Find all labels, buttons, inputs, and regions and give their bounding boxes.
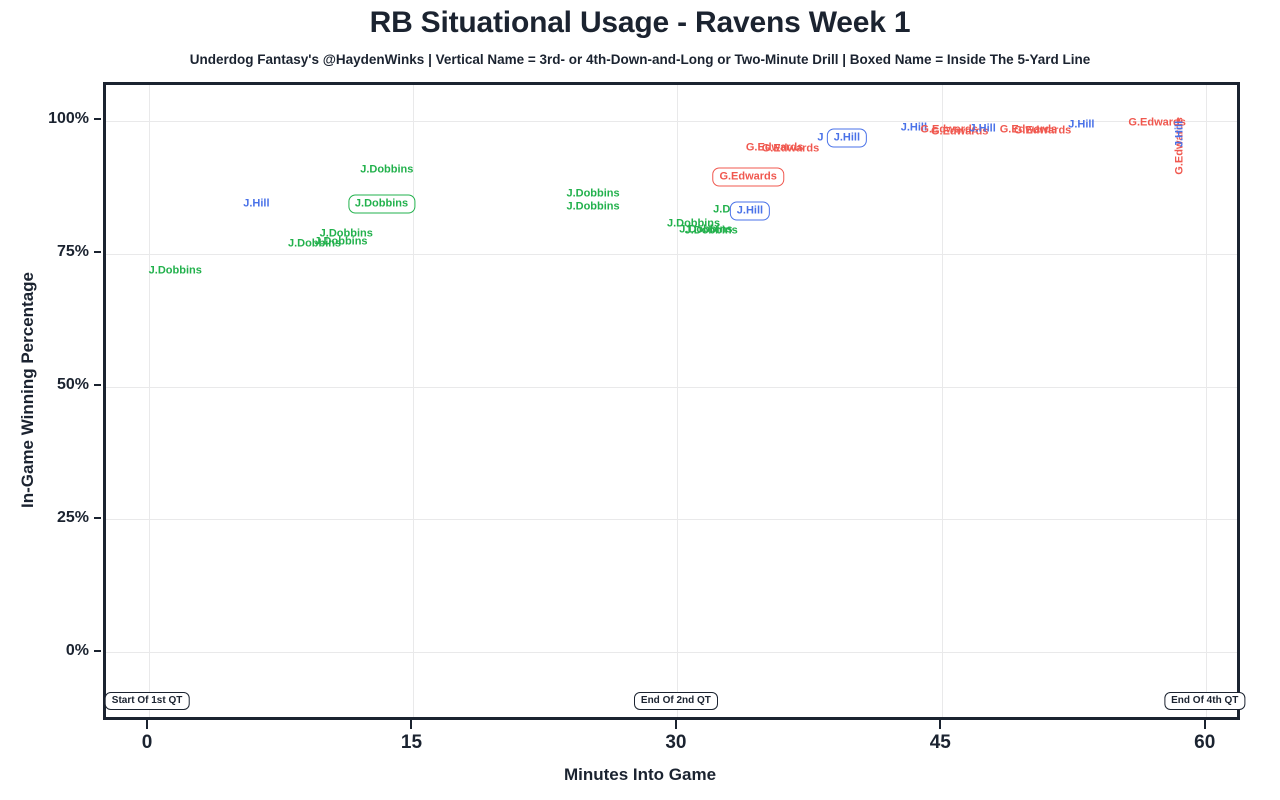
y-tick-label: 100% xyxy=(0,110,89,128)
data-point-label: J.Dobbins xyxy=(348,195,415,214)
y-tick-mark xyxy=(94,118,101,120)
gridline-vertical xyxy=(942,85,943,717)
data-point-label: J.Hill xyxy=(243,199,269,210)
x-tick-mark xyxy=(410,720,412,729)
data-point-label: J.Dobbins xyxy=(149,265,202,276)
gridline-horizontal xyxy=(106,652,1237,653)
y-tick-mark xyxy=(94,384,101,386)
quarter-annotation: Start Of 1st QT xyxy=(105,692,190,710)
data-point-label: J.Hill xyxy=(1175,120,1186,146)
y-tick-mark xyxy=(94,251,101,253)
chart-subtitle: Underdog Fantasy's @HaydenWinks | Vertic… xyxy=(0,52,1280,67)
gridline-horizontal xyxy=(106,387,1237,388)
x-tick-label: 0 xyxy=(87,732,207,754)
x-tick-mark xyxy=(939,720,941,729)
data-point-label: J.Hill xyxy=(969,123,995,134)
x-tick-mark xyxy=(675,720,677,729)
data-point-label: G.Edwards xyxy=(712,167,783,186)
data-point-label: G.Edwards xyxy=(1014,125,1071,136)
gridline-vertical xyxy=(413,85,414,717)
gridline-horizontal xyxy=(106,519,1237,520)
data-point-label: J.Dobbins xyxy=(314,237,367,248)
plot-area xyxy=(103,82,1240,720)
x-tick-label: 45 xyxy=(880,732,1000,754)
y-tick-label: 75% xyxy=(0,243,89,261)
quarter-annotation: End Of 2nd QT xyxy=(634,692,718,710)
x-tick-mark xyxy=(1204,720,1206,729)
x-tick-label: 30 xyxy=(616,732,736,754)
y-tick-mark xyxy=(94,517,101,519)
gridline-vertical xyxy=(677,85,678,717)
data-point-label: G.Edwards xyxy=(762,143,819,154)
y-tick-label: 50% xyxy=(0,376,89,394)
data-point-label: J.Dobbins xyxy=(566,201,619,212)
x-axis-title: Minutes Into Game xyxy=(0,765,1280,785)
data-point-label: J.Hill xyxy=(730,201,770,220)
data-point-label: J.Dobbins xyxy=(360,164,413,175)
gridline-vertical xyxy=(1206,85,1207,717)
gridline-horizontal xyxy=(106,254,1237,255)
x-tick-label: 60 xyxy=(1145,732,1265,754)
x-tick-mark xyxy=(146,720,148,729)
page-title: RB Situational Usage - Ravens Week 1 xyxy=(0,6,1280,40)
gridline-vertical xyxy=(149,85,150,717)
quarter-annotation: End Of 4th QT xyxy=(1164,692,1245,710)
data-point-label: J.Dobbins xyxy=(566,188,619,199)
data-point-label: J.Hill xyxy=(827,129,867,148)
data-point-label: J.Dobbins xyxy=(685,225,738,236)
data-point-label: J.Hill xyxy=(1068,119,1094,130)
data-point-label: J.D xyxy=(713,204,730,215)
y-tick-label: 0% xyxy=(0,642,89,660)
data-point-label: J xyxy=(817,133,823,144)
y-tick-mark xyxy=(94,650,101,652)
y-tick-label: 25% xyxy=(0,509,89,527)
x-tick-label: 15 xyxy=(351,732,471,754)
chart-root: RB Situational Usage - Ravens Week 1 Und… xyxy=(0,0,1280,800)
